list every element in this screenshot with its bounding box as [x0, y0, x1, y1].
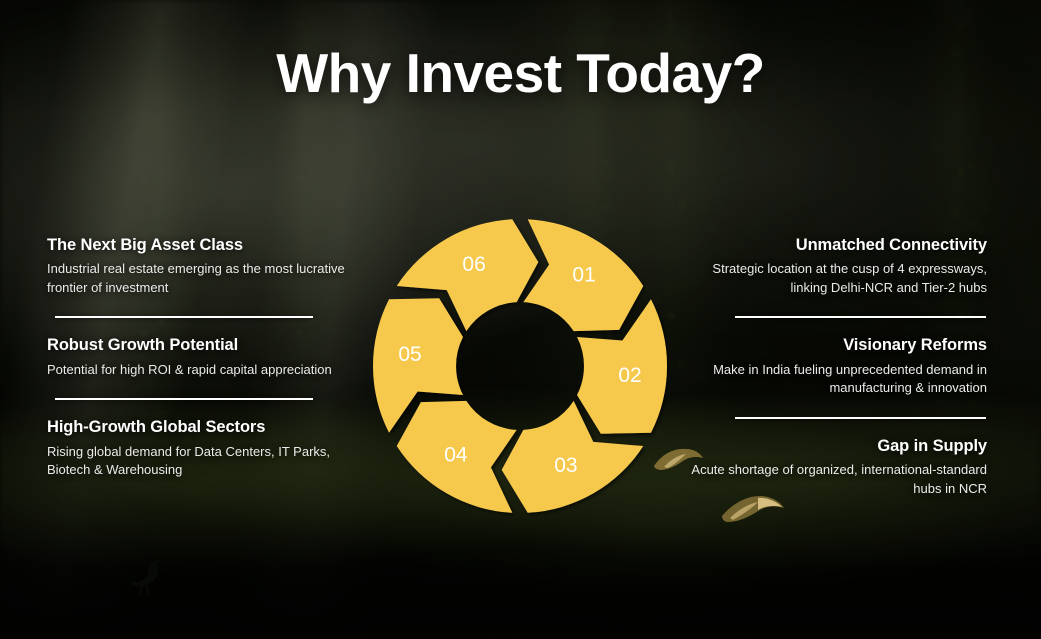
slide-canvas: Why Invest Today? The Next Big Asset Cla… — [0, 0, 1041, 639]
feature-title: Unmatched Connectivity — [687, 236, 987, 255]
right-feature-column: Unmatched Connectivity Strategic locatio… — [687, 236, 987, 498]
donut-label-02: 02 — [618, 364, 641, 387]
feature-divider — [55, 398, 313, 400]
feature-description: Make in India fueling unprecedented dema… — [687, 361, 987, 398]
page-title: Why Invest Today? — [0, 45, 1041, 103]
feature-title: High-Growth Global Sectors — [47, 418, 347, 437]
feature-title: Robust Growth Potential — [47, 336, 347, 355]
donut-label-04: 04 — [444, 444, 468, 467]
feature-item-05: High-Growth Global Sectors Rising global… — [47, 418, 347, 479]
feature-description: Industrial real estate emerging as the m… — [47, 260, 347, 297]
donut-label-05: 05 — [398, 343, 421, 366]
feature-item-06: Robust Growth Potential Potential for hi… — [47, 336, 347, 379]
feature-item-02: Unmatched Connectivity Strategic locatio… — [687, 236, 987, 297]
feature-title: Gap in Supply — [687, 437, 987, 456]
feature-description: Strategic location at the cusp of 4 expr… — [687, 260, 987, 297]
feature-item-03: Visionary Reforms Make in India fueling … — [687, 336, 987, 397]
left-feature-column: The Next Big Asset Class Industrial real… — [47, 236, 347, 480]
feature-divider — [55, 316, 313, 318]
feature-title: Visionary Reforms — [687, 336, 987, 355]
ground-bird-icon — [120, 552, 176, 600]
feature-item-01: The Next Big Asset Class Industrial real… — [47, 236, 347, 297]
feature-divider — [735, 417, 986, 419]
donut-label-01: 01 — [572, 264, 595, 287]
donut-label-06: 06 — [462, 253, 485, 276]
feature-title: The Next Big Asset Class — [47, 236, 347, 255]
feature-item-04: Gap in Supply Acute shortage of organize… — [687, 437, 987, 498]
feature-divider — [735, 316, 986, 318]
cycle-donut-chart: 010203040506 — [370, 216, 670, 516]
feature-description: Acute shortage of organized, internation… — [687, 461, 987, 498]
feature-description: Rising global demand for Data Centers, I… — [47, 443, 347, 480]
donut-label-03: 03 — [554, 454, 577, 477]
feature-description: Potential for high ROI & rapid capital a… — [47, 361, 347, 379]
